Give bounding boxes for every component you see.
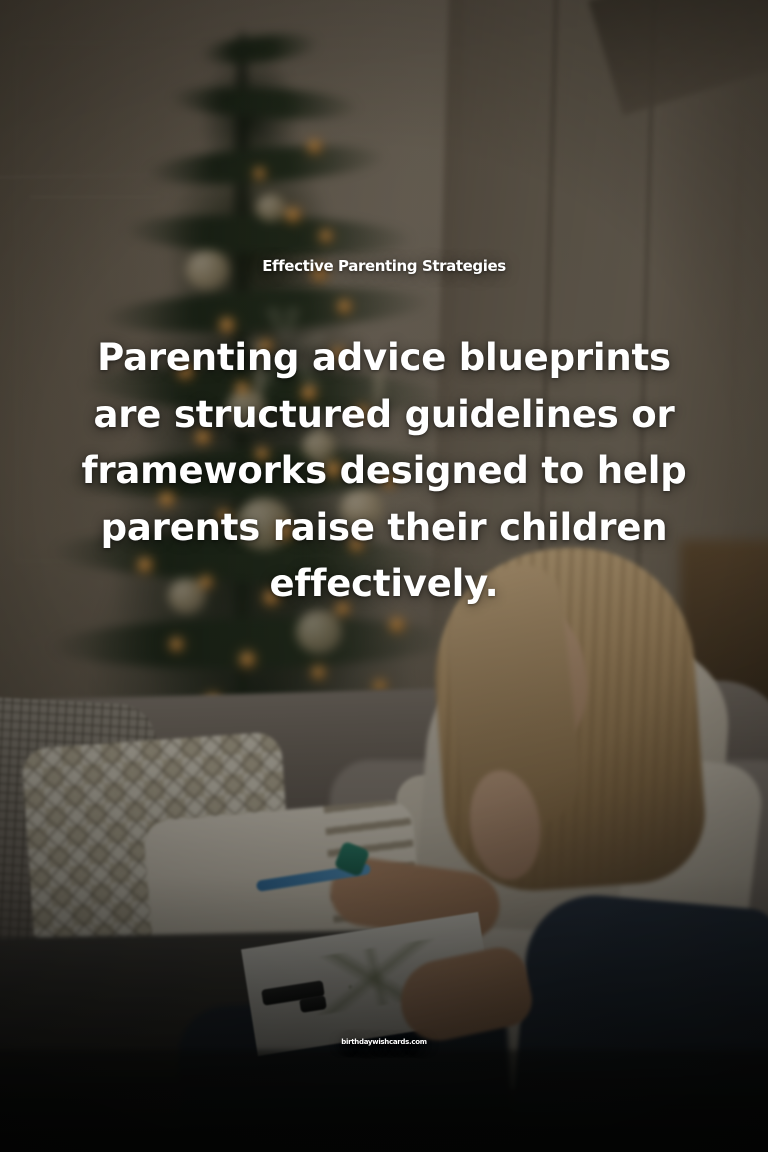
subtitle-line: effectively. — [64, 556, 704, 613]
subtitle-line: Parenting advice blueprints — [64, 330, 704, 387]
subtitle-line: frameworks designed to help — [64, 443, 704, 500]
poster-card: Effective Parenting Strategies Parenting… — [0, 0, 768, 1152]
text-overlay: Effective Parenting Strategies Parenting… — [0, 0, 768, 1152]
subtitle-line: are structured guidelines or — [64, 387, 704, 444]
website-watermark[interactable]: birthdaywishcards.com — [0, 1038, 768, 1046]
poster-subtitle: Parenting advice blueprints are structur… — [64, 330, 704, 613]
poster-title: Effective Parenting Strategies — [0, 259, 768, 275]
subtitle-line: parents raise their children — [64, 500, 704, 557]
